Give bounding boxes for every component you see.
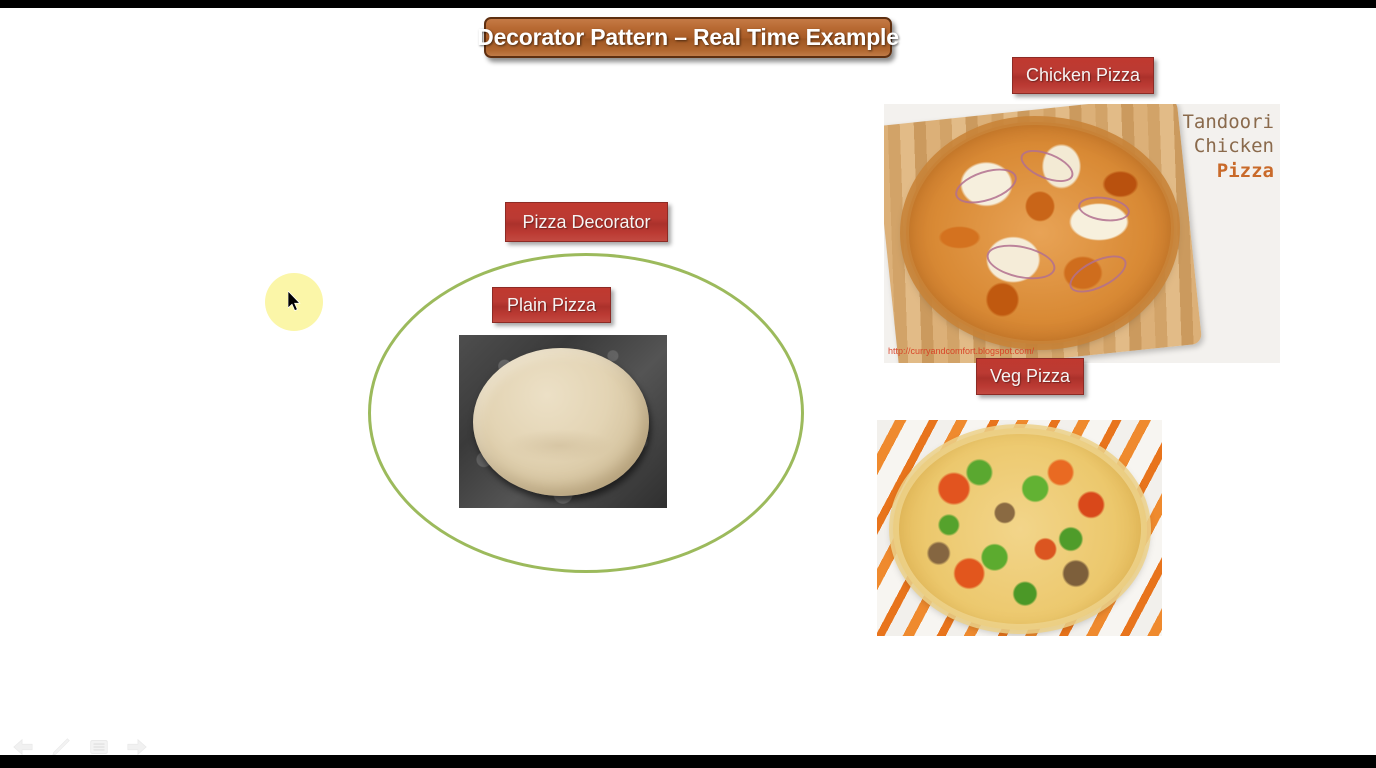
letterbox-top — [0, 0, 1376, 8]
previous-slide-icon[interactable] — [10, 734, 36, 755]
caption-line-2: Chicken — [1150, 134, 1274, 158]
label-plain-pizza: Plain Pizza — [492, 287, 611, 323]
label-veg-pizza: Veg Pizza — [976, 358, 1084, 395]
pen-icon[interactable] — [48, 734, 74, 755]
label-pizza-decorator-text: Pizza Decorator — [522, 212, 650, 233]
chicken-pizza-image: Tandoori Chicken Pizza http://curryandco… — [884, 104, 1280, 363]
label-pizza-decorator: Pizza Decorator — [505, 202, 668, 242]
caption-line-3: Pizza — [1150, 159, 1274, 183]
next-slide-icon[interactable] — [124, 734, 150, 755]
letterbox-bottom — [0, 755, 1376, 768]
presenter-toolbar — [10, 730, 170, 755]
chicken-pizza-shape — [906, 122, 1174, 344]
slide-menu-icon[interactable] — [86, 734, 112, 755]
pizza-dough-shape — [473, 348, 649, 496]
label-chicken-pizza: Chicken Pizza — [1012, 57, 1154, 94]
slide-canvas: Decorator Pattern – Real Time Example Pi… — [0, 8, 1376, 755]
page-title: Decorator Pattern – Real Time Example — [477, 24, 899, 51]
veg-pizza-shape — [893, 428, 1147, 630]
image-watermark: http://curryandcomfort.blogspot.com/ — [888, 346, 1034, 356]
veg-pizza-image — [877, 420, 1162, 636]
mouse-cursor-icon — [288, 291, 302, 313]
caption-line-1: Tandoori — [1150, 110, 1274, 134]
label-veg-pizza-text: Veg Pizza — [990, 366, 1070, 387]
label-chicken-pizza-text: Chicken Pizza — [1026, 65, 1140, 86]
chicken-pizza-caption: Tandoori Chicken Pizza — [1150, 110, 1274, 183]
slide-title-plaque: Decorator Pattern – Real Time Example — [484, 17, 892, 58]
presentation-stage: Decorator Pattern – Real Time Example Pi… — [0, 0, 1376, 768]
plain-pizza-image — [459, 335, 667, 508]
label-plain-pizza-text: Plain Pizza — [507, 295, 596, 316]
